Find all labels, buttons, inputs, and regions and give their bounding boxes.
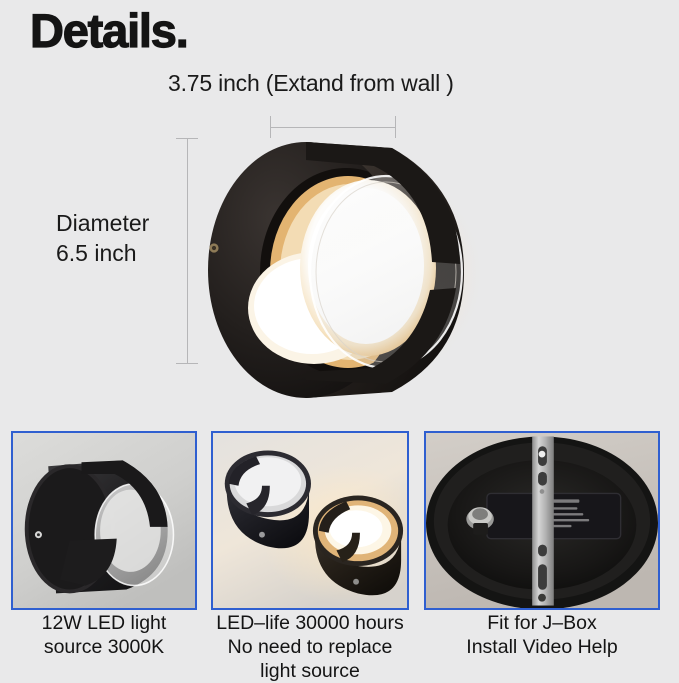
hero-product-image xyxy=(196,122,480,412)
panel-led-source-image xyxy=(13,433,195,608)
vertical-dimension-line xyxy=(176,138,198,364)
caption-led-source: 12W LED light source 3000K xyxy=(6,612,202,660)
caption-j-box: Fit for J–Box Install Video Help xyxy=(420,612,664,660)
panel-led-life[interactable] xyxy=(211,431,409,610)
top-dimension-label: 3.75 inch (Extand from wall ) xyxy=(168,70,454,97)
page-title: Details. xyxy=(30,6,188,57)
product-detail-page: Details. 3.75 inch (Extand from wall ) D… xyxy=(0,0,679,679)
panel-led-source[interactable] xyxy=(11,431,197,610)
panel-j-box-image xyxy=(426,433,658,608)
hero-section: 3.75 inch (Extand from wall ) Diameter 6… xyxy=(0,60,679,420)
panel-captions: 12W LED light source 3000K LED–life 3000… xyxy=(0,612,679,679)
panel-j-box[interactable] xyxy=(424,431,660,610)
caption-led-life: LED–life 30000 hours No need to replace … xyxy=(206,612,414,683)
left-dimension-label: Diameter 6.5 inch xyxy=(56,208,149,269)
panel-led-life-image xyxy=(213,433,407,608)
dimension-tick-bottom xyxy=(176,363,198,364)
dimension-bar-vertical xyxy=(187,138,188,364)
feature-panels xyxy=(0,431,679,611)
